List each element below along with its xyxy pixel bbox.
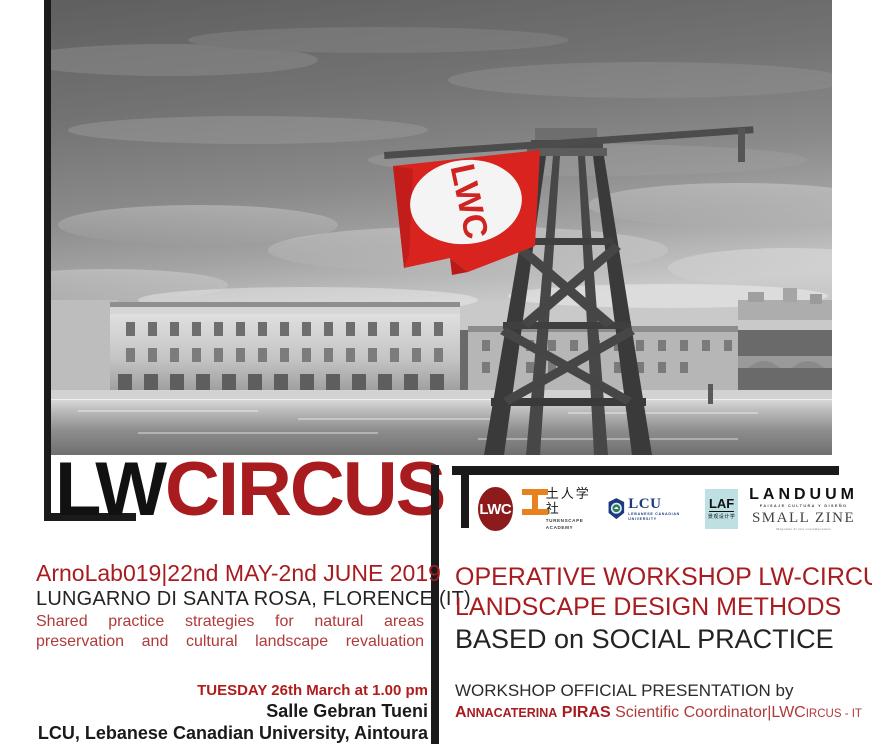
laf-logo-cn: 景观设计学 (708, 513, 736, 521)
right-headline-block: OPERATIVE WORKSHOP LW-CIRCUS LANDSCAPE D… (455, 562, 855, 656)
lcu-logo: LCU LEBANESE CANADIAN UNIVERSITY (607, 495, 693, 523)
lwc-logo: LWC (478, 487, 513, 531)
session-venue-address: LCU, Lebanese Canadian University, Ainto… (36, 722, 428, 744)
turenscape-logo-label: TURENSCAPE ACADEMY (546, 517, 598, 531)
laf-logo: LAF 景观设计学 (705, 489, 738, 529)
partner-logo-strip: LWC 土人学社 TURENSCAPE ACADEMY LCU LEBANESE… (478, 486, 858, 532)
session-details-block: TUESDAY 26th March at 1.00 pm Salle Gebr… (36, 681, 428, 744)
lwc-logo-label: LWC (479, 501, 511, 518)
lwcircus-wordmark: LW CIRCUS (55, 453, 444, 527)
wordmark-circus: CIRCUS (165, 453, 444, 527)
lcu-logo-sub: LEBANESE CANADIAN UNIVERSITY (628, 512, 692, 522)
event-description-line-1: Sharedpracticestrategiesfornaturalareas (36, 612, 424, 632)
wordmark-lw: LW (55, 453, 165, 527)
event-dates-line: ArnoLab019|22nd MAY-2nd JUNE 2019 (36, 560, 426, 587)
small-zine-logo-label: SMALL ZINE (752, 510, 855, 527)
lcu-crest-icon (607, 495, 626, 523)
headline-line-3: BASED on SOCIAL PRACTICE (455, 622, 855, 656)
session-venue: Salle Gebran Tueni (36, 700, 428, 722)
presentation-block: WORKSHOP OFFICIAL PRESENTATION by ANNACA… (455, 679, 865, 725)
event-description: Sharedpracticestrategiesfornaturalareas … (36, 612, 424, 652)
presenter-first-initial: A (455, 704, 467, 721)
presenter-role-suffix: IRCUS - IT (806, 708, 862, 720)
turenscape-logo-cn: 土人学社 (546, 487, 598, 517)
t-letter-stem (461, 475, 469, 528)
poster-canvas: LWC LW CIRCUS LWC 土人学社 TURENSCAPE ACADEM… (0, 0, 872, 744)
small-zine-logo-sub: Magazine di arte contemporanea (776, 527, 831, 532)
session-datetime: TUESDAY 26th March at 1.00 pm (36, 681, 428, 700)
turenscape-academy-logo: 土人学社 TURENSCAPE ACADEMY (522, 487, 598, 531)
event-description-line-2: preservationandculturallandscaperevaluat… (36, 632, 424, 652)
presenter-line: ANNACATERINA PIRAS Scientific Coordinato… (455, 702, 865, 725)
turenscape-mark-icon (522, 489, 542, 515)
presentation-label: WORKSHOP OFFICIAL PRESENTATION by (455, 679, 865, 702)
presenter-first-rest: NNACATERINA (467, 706, 558, 720)
presenter-role: Scientific Coordinator|LWC (615, 704, 806, 721)
lcu-logo-label: LCU (628, 497, 692, 512)
headline-line-1: OPERATIVE WORKSHOP LW-CIRCUS (455, 562, 855, 592)
event-dates-text: ArnoLab019|22nd MAY-2nd JUNE 2019 (36, 560, 441, 586)
headline-line-2: LANDSCAPE DESIGN METHODS (455, 592, 855, 622)
hero-photo: LWC (48, 0, 832, 455)
left-info-block: ArnoLab019|22nd MAY-2nd JUNE 2019 LUNGAR… (36, 560, 426, 652)
arno-river-florence-photo: LWC (48, 0, 832, 455)
presenter-name: ANNACATERINA PIRAS (455, 704, 611, 721)
laf-logo-label: LAF (709, 497, 734, 512)
landuum-logo-label: LANDUUM (749, 486, 858, 503)
presenter-last-name: PIRAS (562, 704, 611, 721)
landuum-smallzine-logos: LANDUUM PAISAJE CULTURA Y DISEÑO SMALL Z… (749, 486, 858, 532)
landuum-logo-sub: PAISAJE CULTURA Y DISEÑO (760, 503, 848, 509)
event-location-line: LUNGARNO DI SANTA ROSA, FLORENCE (IT) (36, 587, 426, 612)
t-letter-crossbar (452, 466, 839, 475)
left-vertical-rule (44, 0, 51, 520)
